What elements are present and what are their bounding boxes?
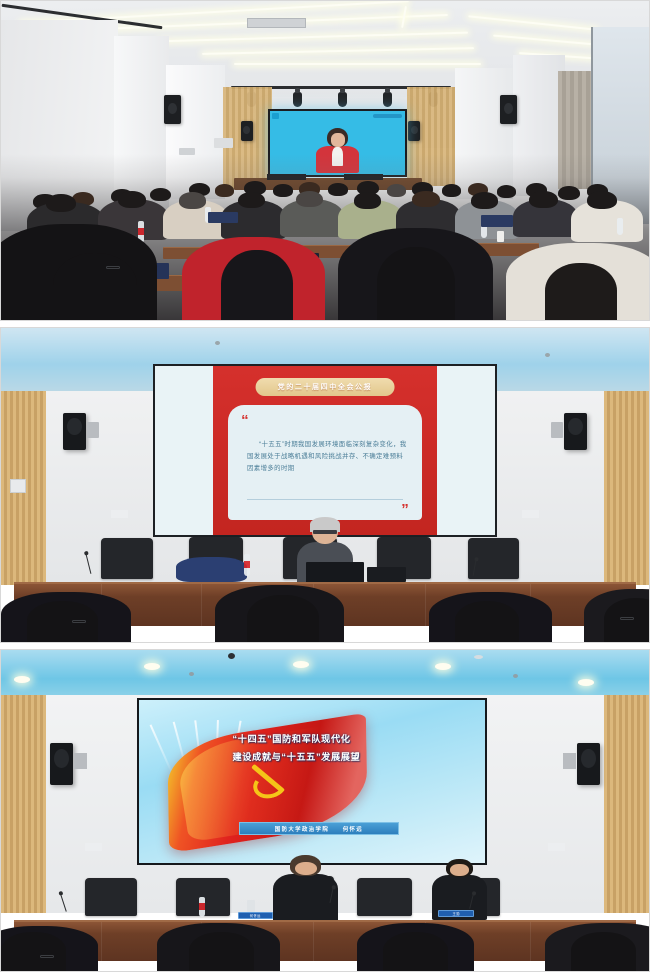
led-strip [234, 63, 480, 65]
quote-underline [247, 499, 403, 500]
foreground-head [221, 250, 292, 320]
folded-jacket [176, 557, 247, 582]
audience-head [529, 191, 558, 208]
wall-outlet [111, 510, 128, 518]
audience-head [179, 192, 206, 209]
glasses-icon [106, 266, 120, 269]
official-face [450, 864, 469, 876]
audience-head [273, 184, 292, 197]
nameplate-left-text: 何怀远 [250, 913, 261, 918]
audience-head [215, 184, 234, 197]
audience-head [558, 186, 580, 200]
panel-auditorium-wide [0, 0, 650, 321]
seated-official-left [273, 855, 338, 922]
nameplate-left: 何怀远 [238, 912, 274, 919]
photo-collage: 党的二十届四中全会公报 “ “十五五”时期我国发展环境面临深刻复杂变化，我国发展… [0, 0, 650, 975]
speaker-icon [63, 413, 86, 451]
laptop-icon [367, 567, 406, 583]
nameplate-right: 王勋 [438, 910, 474, 917]
speaker-icon [408, 121, 420, 142]
audience-head [46, 194, 76, 212]
quote-open-mark: “ [241, 413, 249, 428]
audience-head [497, 185, 516, 198]
glasses-icon [40, 955, 54, 958]
panel-presenter-communique: 党的二十届四中全会公报 “ “十五五”时期我国发展环境面临深刻复杂变化，我国发展… [0, 327, 650, 643]
audience-head [387, 184, 406, 197]
speaker-icon [577, 743, 600, 785]
glasses-icon [72, 620, 86, 623]
glasses-icon [620, 617, 634, 620]
wood-wall-panel [1, 695, 46, 913]
audience-head [354, 192, 381, 209]
speaker-bracket [74, 753, 87, 769]
slide-title-banner: 党的二十届四中全会公报 [256, 378, 395, 396]
bottle-icon [244, 554, 250, 576]
speaker-icon [241, 121, 253, 142]
vc-speaker-face [331, 133, 345, 147]
speaker-icon [164, 95, 181, 124]
official-face [295, 862, 317, 875]
ceiling [1, 650, 649, 698]
slide-subtitle-text: 国防大学政治学院 何怀远 [275, 825, 363, 833]
official-body [273, 874, 338, 923]
smoke-detector-icon [513, 674, 518, 678]
paper-cup [247, 900, 255, 912]
ceiling-vent [247, 18, 305, 29]
glasses-icon [313, 530, 336, 534]
vc-participant-badge [373, 114, 403, 119]
paper-cup [497, 231, 504, 242]
downlight-icon [435, 663, 451, 670]
downlight-icon [578, 679, 594, 686]
slide-title-line2: 建设成就与“十五五”发展展望 [232, 749, 474, 766]
spotlight-icon [338, 92, 347, 107]
audience-head [412, 191, 439, 208]
speaker-icon [564, 413, 587, 451]
bottle-icon [617, 218, 623, 235]
quote-close-mark: ” [401, 502, 409, 517]
audience-head [328, 183, 347, 196]
audience-head [296, 191, 323, 208]
stage-chair [101, 538, 153, 579]
wall-outlet [548, 843, 565, 851]
downlight-icon [144, 663, 160, 670]
speaker-icon [50, 743, 73, 785]
smoke-detector-icon [474, 655, 483, 659]
slide-quote-text: “十五五”时期我国发展环境面临深刻复杂变化，我国发展处于战略机遇和风险挑战并存、… [247, 439, 407, 475]
projection-screen: 党的二十届四中全会公报 “ “十五五”时期我国发展环境面临深刻复杂变化，我国发展… [153, 364, 496, 537]
laptop-icon [208, 212, 237, 223]
spotlight-icon [293, 92, 302, 107]
slide-title: “十四五”国防和军队现代化 建设成就与“十五五”发展展望 [232, 731, 474, 766]
foreground-head [189, 932, 254, 971]
foreground-head [545, 263, 616, 320]
laptop-icon [306, 562, 364, 584]
audience-head [238, 192, 265, 209]
audience-head [150, 188, 171, 201]
slide-red-frame: 党的二十届四中全会公报 “ “十五五”时期我国发展环境面临深刻复杂变化，我国发展… [213, 366, 437, 535]
foreground-head [377, 247, 455, 320]
ceiling-sensor-icon [228, 653, 235, 659]
downlight-icon [14, 676, 30, 683]
foreground-head [27, 601, 98, 642]
wall-sign [214, 138, 233, 148]
slide-title-line1: “十四五”国防和军队现代化 [232, 731, 474, 748]
wall-outlet [522, 510, 539, 518]
audience-head [587, 191, 617, 209]
slide-subtitle-bar: 国防大学政治学院 何怀远 [239, 822, 398, 835]
slide-title-text: 党的二十届四中全会公报 [278, 382, 373, 392]
audience-head [118, 191, 147, 208]
slide-quote-card: “ “十五五”时期我国发展环境面临深刻复杂变化，我国发展处于战略机遇和风险挑战并… [228, 405, 423, 520]
speaker-bracket [551, 422, 564, 438]
nameplate-right-text: 王勋 [453, 911, 460, 916]
audience-head [442, 184, 461, 197]
wood-wall-panel [604, 391, 649, 586]
foreground-head [571, 932, 636, 971]
foreground-head [247, 595, 318, 642]
panel-title-slide: “十四五”国防和军队现代化 建设成就与“十五五”发展展望 国防大学政治学院 何怀… [0, 649, 650, 972]
bottle-icon [199, 897, 205, 917]
vc-status-indicator [272, 113, 279, 119]
hammer-sickle-icon [243, 769, 298, 811]
spotlight-icon [383, 92, 392, 107]
speaker-icon [500, 95, 517, 124]
wall-outlet [85, 843, 102, 851]
foreground-head [455, 601, 520, 642]
stage-chair [357, 878, 411, 917]
head-table [14, 920, 636, 962]
laptop-icon [481, 215, 513, 228]
audience-head [471, 192, 498, 209]
wood-wall-panel [604, 695, 649, 913]
stage-chair [85, 878, 137, 917]
foreground-head [53, 253, 137, 320]
foreground-head [604, 598, 650, 642]
foreground-head [1, 932, 66, 971]
smoke-detector-icon [215, 341, 220, 345]
wall-sign [10, 479, 26, 493]
speaker-bracket [563, 753, 576, 769]
foreground-head [383, 932, 448, 971]
speaker-bracket [87, 422, 100, 438]
projection-screen: “十四五”国防和军队现代化 建设成就与“十五五”发展展望 国防大学政治学院 何怀… [137, 698, 487, 865]
